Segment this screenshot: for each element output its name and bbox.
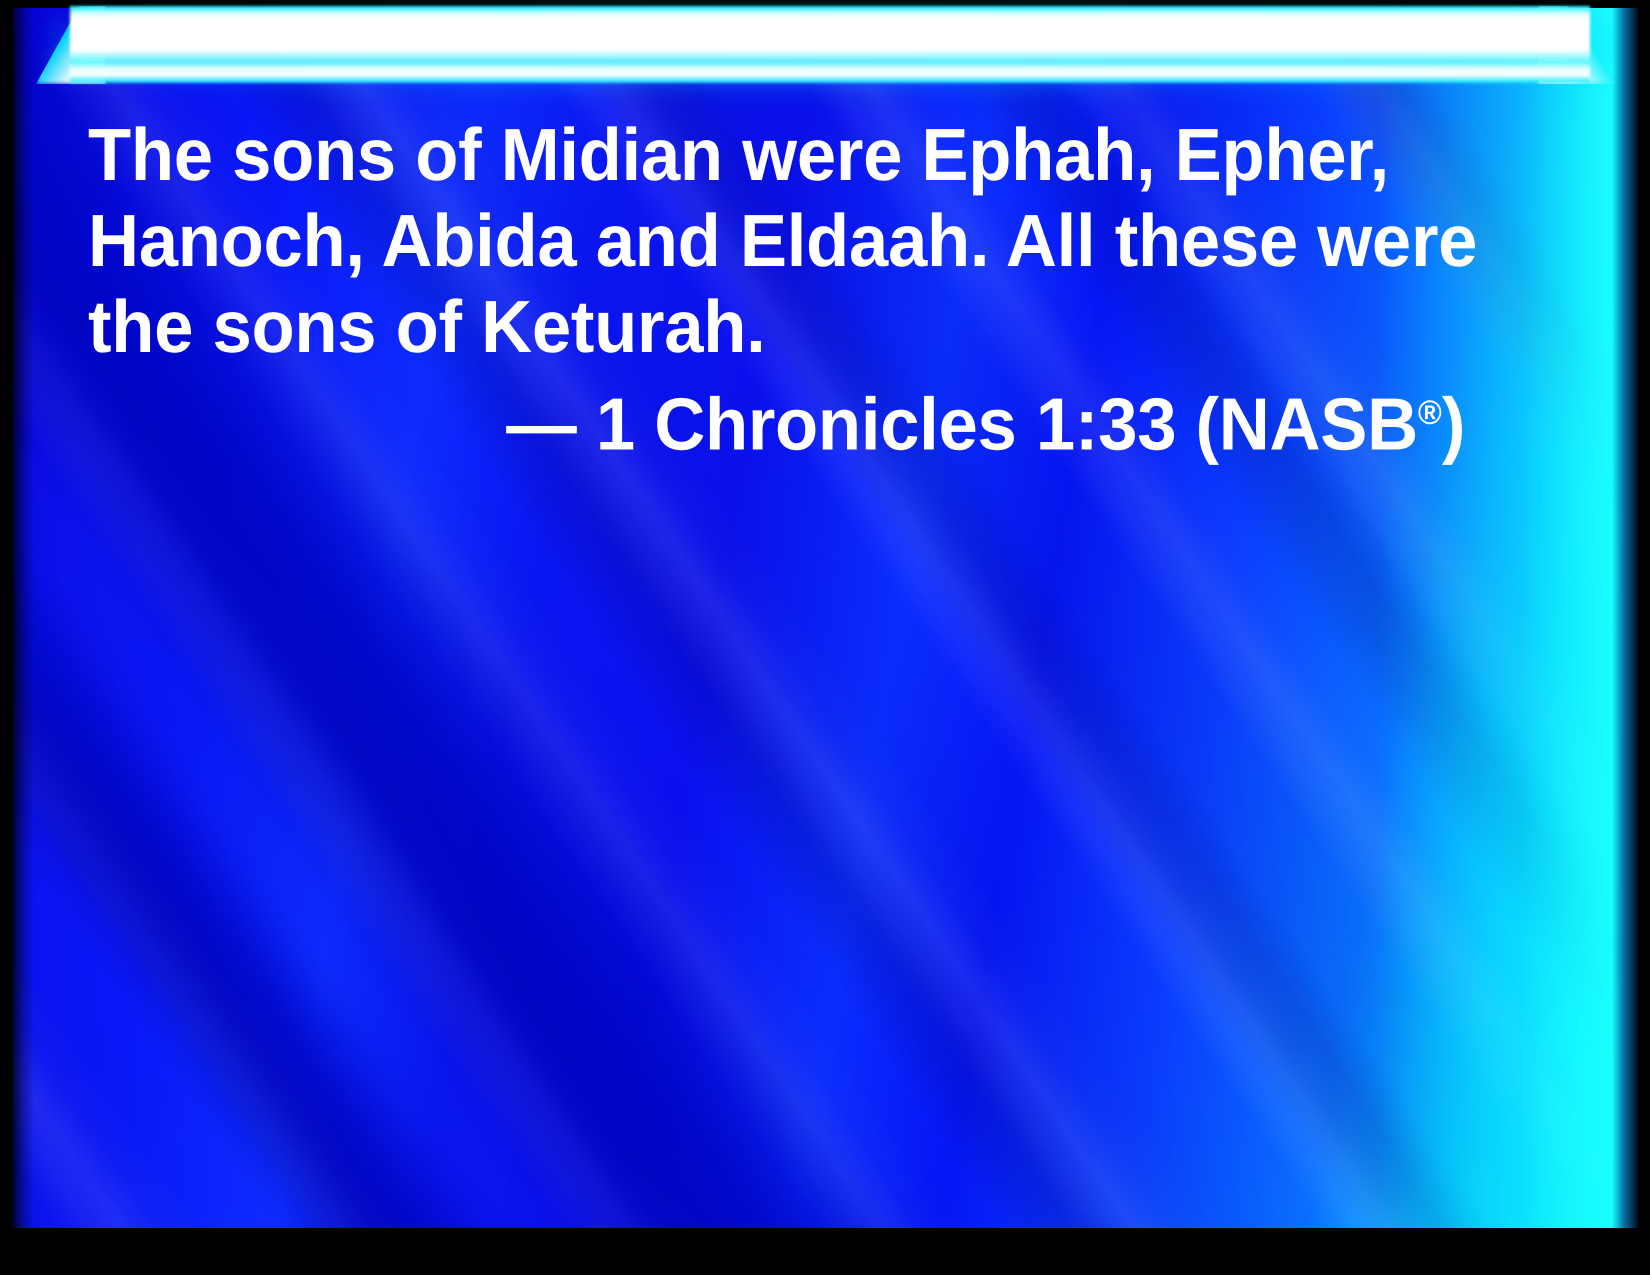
verse-line-3: the sons of Keturah.: [88, 284, 1473, 370]
citation-prefix: — 1 Chronicles 1:33 (NASB: [506, 383, 1418, 466]
verse-citation: — 1 Chronicles 1:33 (NASB®): [88, 370, 1473, 468]
right-edge-shadow: [1612, 8, 1638, 1228]
verse-line-1: The sons of Midian were Ephah, Epher,: [88, 112, 1473, 198]
citation-suffix: ): [1442, 383, 1465, 466]
verse-slide: The sons of Midian were Ephah, Epher, Ha…: [0, 0, 1650, 1275]
verse-text-block: The sons of Midian were Ephah, Epher, Ha…: [88, 112, 1473, 468]
left-edge-shadow: [12, 8, 34, 1228]
registered-trademark-icon: ®: [1418, 394, 1442, 432]
verse-line-2: Hanoch, Abida and Eldaah. All these were: [88, 198, 1473, 284]
